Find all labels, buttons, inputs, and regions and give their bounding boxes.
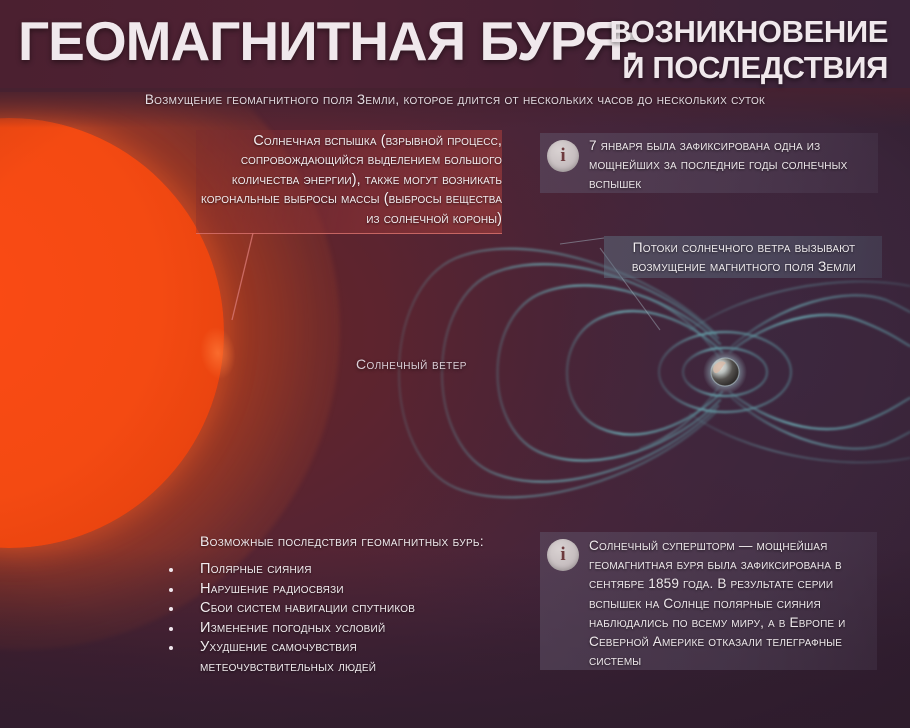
magnetosphere-callout-text: Потоки солнечного ветра вызывают возмуще… (606, 238, 882, 276)
bullet-icon (169, 607, 173, 611)
page-title: ГЕОМАГНИТНАЯ БУРЯ: (18, 14, 640, 69)
list-item: Ухудшение самочувствияметеочувствительны… (166, 638, 506, 677)
flare-callout-text: Солнечная вспышка (взрывной процесс, соп… (190, 132, 502, 229)
list-item-label: Изменение погодных условий (200, 620, 385, 636)
list-item-continuation: метеочувствительных людей (200, 658, 506, 678)
info-icon (547, 140, 579, 172)
list-item-label: Нарушение радиосвязи (200, 581, 344, 597)
list-item-label: Сбои систем навигации спутников (200, 600, 415, 616)
info-icon (547, 539, 579, 571)
bullet-icon (169, 568, 173, 572)
bullet-icon (169, 627, 173, 631)
info-box-top-text: 7 января была зафиксирована одна из мощн… (589, 136, 881, 194)
list-item: Полярные сияния (166, 560, 506, 580)
page-subtitle-line1: ВОЗНИКНОВЕНИЕ (610, 14, 888, 49)
list-item: Нарушение радиосвязи (166, 580, 506, 600)
consequences-title: Возможные последствия геомагнитных бурь: (200, 533, 484, 549)
header-description: Возмущение геомагнитного поля Земли, кот… (0, 92, 910, 107)
list-item: Изменение погодных условий (166, 619, 506, 639)
page-subtitle-line2: И ПОСЛЕДСТВИЯ (610, 52, 888, 83)
bullet-icon (169, 588, 173, 592)
infographic-poster: ГЕОМАГНИТНАЯ БУРЯ: ВОЗНИКНОВЕНИЕ И ПОСЛЕ… (0, 0, 910, 728)
bullet-icon (169, 646, 173, 650)
page-subtitle-stack: ВОЗНИКНОВЕНИЕ И ПОСЛЕДСТВИЯ (610, 16, 888, 83)
consequences-list: Полярные сиянияНарушение радиосвязиСбои … (166, 560, 506, 678)
list-item: Сбои систем навигации спутников (166, 599, 506, 619)
solar-wind-label: Солнечный ветер (356, 356, 467, 372)
info-box-bottom-text: Солнечный супершторм — мощнейшая геомагн… (589, 536, 877, 670)
list-item-label: Полярные сияния (200, 561, 312, 577)
list-item-label: Ухудшение самочувствия (200, 639, 357, 655)
